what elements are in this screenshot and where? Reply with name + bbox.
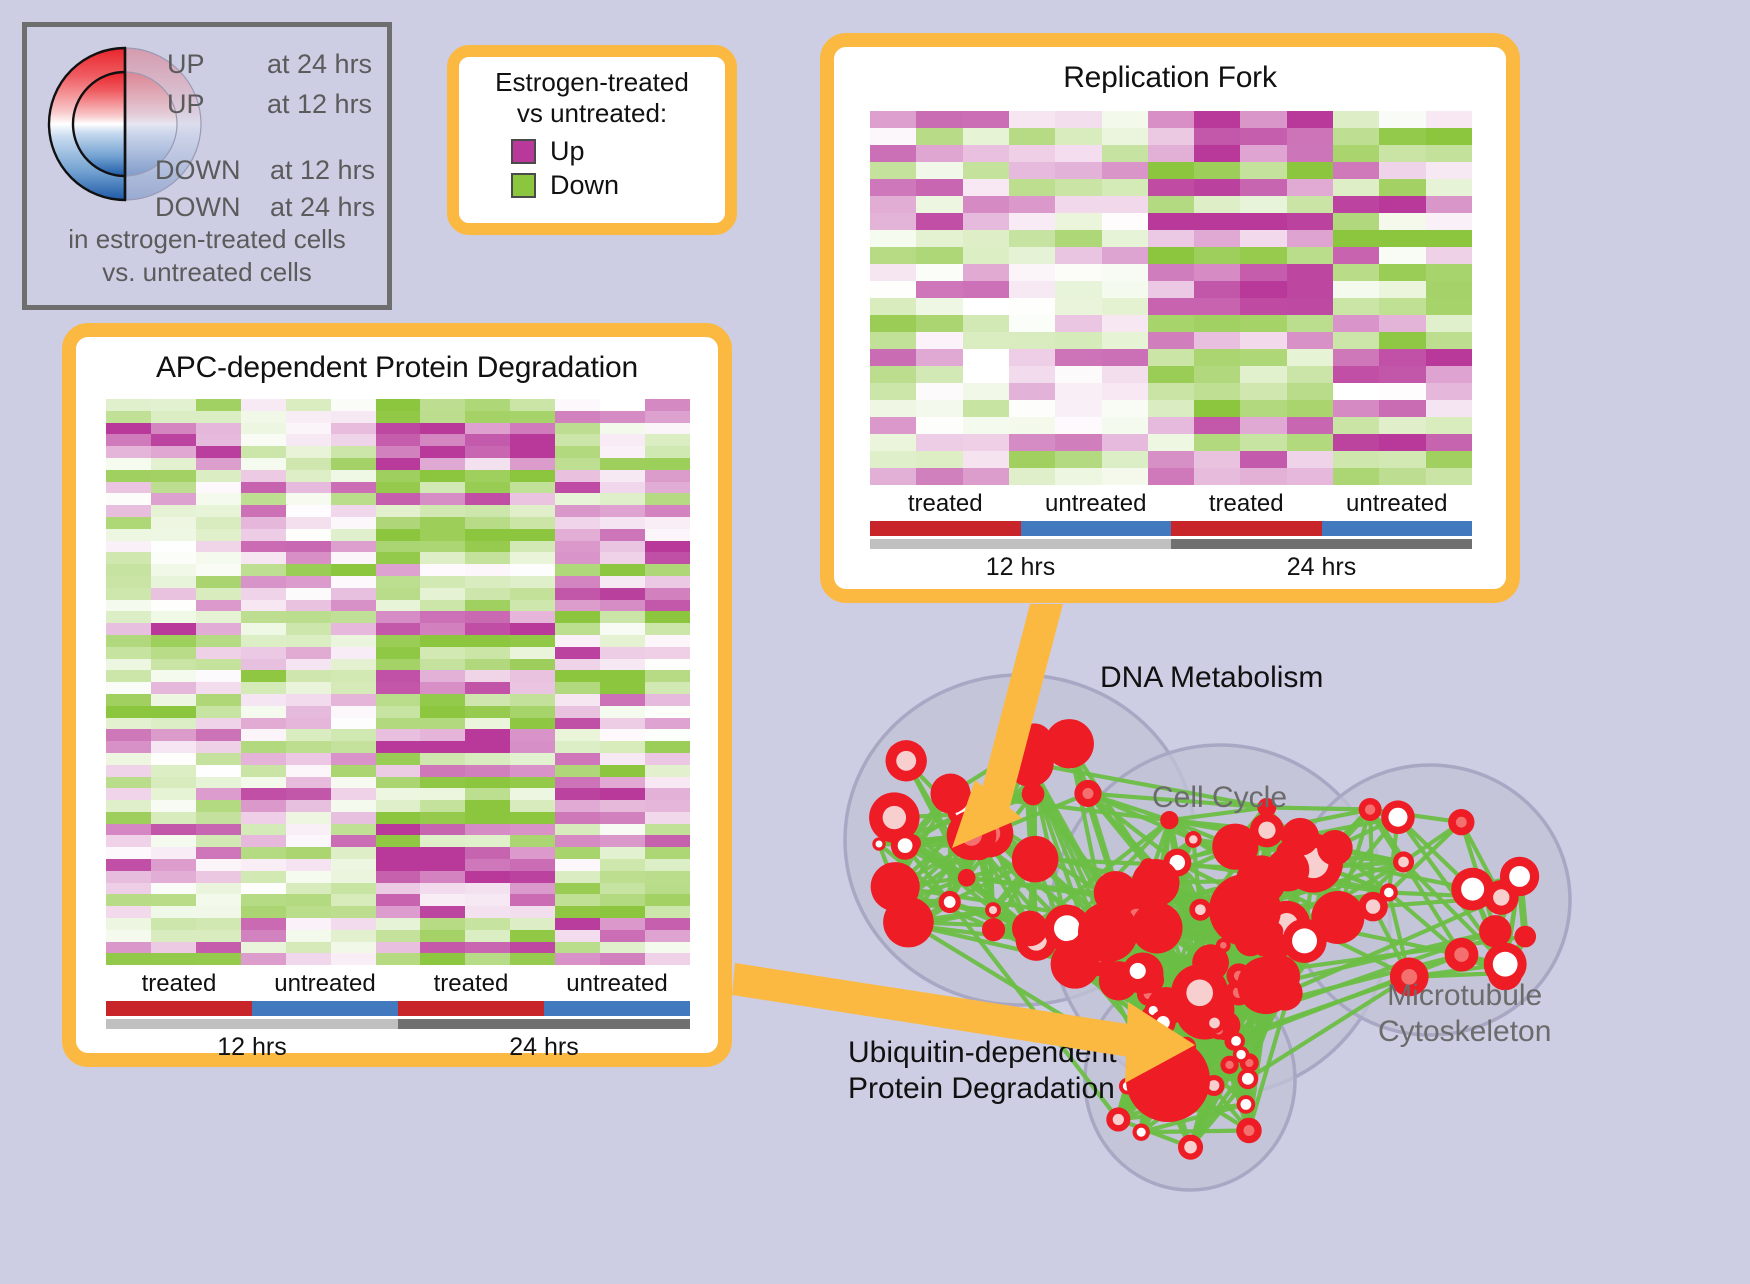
heatmap-cell xyxy=(870,281,916,298)
heatmap-cell xyxy=(1379,400,1425,417)
treatment-bar-untreated-24 xyxy=(544,1001,690,1016)
heatmap-cell xyxy=(420,635,465,647)
heatmap-cell xyxy=(1148,315,1194,332)
treatment-bar-treated-12 xyxy=(870,521,1021,536)
heatmap-cell xyxy=(645,741,690,753)
heatmap-cell xyxy=(376,588,421,600)
network-node xyxy=(883,897,934,948)
heatmap-cell xyxy=(645,788,690,800)
heatmap-cell xyxy=(916,349,962,366)
heatmap-cell xyxy=(600,411,645,423)
heatmap-cell xyxy=(555,482,600,494)
heatmap-cell xyxy=(1102,451,1148,468)
heatmap-cell xyxy=(645,600,690,612)
heatmap-cell xyxy=(963,111,1009,128)
heatmap-cell xyxy=(241,611,286,623)
heatmap-cell xyxy=(645,729,690,741)
heatmap-cell xyxy=(510,953,555,965)
apc-time-bars xyxy=(106,1019,690,1029)
heatmap-cell xyxy=(510,729,555,741)
heatmap-cell xyxy=(555,623,600,635)
heatmap-cell xyxy=(1240,332,1286,349)
heatmap-cell xyxy=(1287,434,1333,451)
heatmap-cell xyxy=(870,468,916,485)
heatmap-cell xyxy=(1102,145,1148,162)
heatmap-cell xyxy=(420,788,465,800)
heatmap-cell xyxy=(196,493,241,505)
heatmap-cell xyxy=(1055,230,1101,247)
group-label-3: untreated xyxy=(1322,490,1473,518)
heatmap-cell xyxy=(555,883,600,895)
heatmap-cell xyxy=(151,741,196,753)
heatmap-cell xyxy=(600,659,645,671)
heatmap-cell xyxy=(420,470,465,482)
heatmap-cell xyxy=(196,835,241,847)
heatmap-cell xyxy=(420,906,465,918)
heatmap-cell xyxy=(1009,162,1055,179)
updown-legend-box: Estrogen-treated vs untreated: Up Down xyxy=(447,45,737,235)
heatmap-cell xyxy=(151,423,196,435)
heatmap-cell xyxy=(1102,196,1148,213)
heatmap-cell xyxy=(376,552,421,564)
heatmap-cell xyxy=(1148,128,1194,145)
heatmap-cell xyxy=(286,588,331,600)
network-node-core xyxy=(883,806,906,829)
time-bar-12hrs xyxy=(870,539,1171,549)
time-bar-24hrs xyxy=(1171,539,1472,549)
heatmap-cell xyxy=(645,434,690,446)
heatmap-cell xyxy=(376,765,421,777)
heatmap-cell xyxy=(106,470,151,482)
heatmap-cell xyxy=(420,918,465,930)
heatmap-cell xyxy=(196,765,241,777)
heatmap-cell xyxy=(1426,111,1472,128)
heatmap-cell xyxy=(1287,145,1333,162)
heatmap-cell xyxy=(286,623,331,635)
heatmap-cell xyxy=(331,493,376,505)
replication-fork-panel: Replication Fork treated untreated treat… xyxy=(820,33,1520,603)
heatmap-cell xyxy=(465,505,510,517)
heatmap-cell xyxy=(196,411,241,423)
heatmap-cell xyxy=(106,647,151,659)
heatmap-cell xyxy=(420,411,465,423)
cluster-label-microtubule-cytoskeleton: Microtubule Cytoskeleton xyxy=(1378,978,1551,1050)
heatmap-cell xyxy=(963,434,1009,451)
heatmap-cell xyxy=(196,682,241,694)
heatmap-cell xyxy=(1333,332,1379,349)
heatmap-cell xyxy=(286,918,331,930)
heatmap-cell xyxy=(600,647,645,659)
legend-item-down: Down xyxy=(511,170,725,201)
heatmap-cell xyxy=(331,411,376,423)
heatmap-cell xyxy=(420,953,465,965)
heatmap-cell xyxy=(151,493,196,505)
heatmap-cell xyxy=(1009,298,1055,315)
heatmap-cell xyxy=(600,777,645,789)
heatmap-cell xyxy=(1009,264,1055,281)
heatmap-cell xyxy=(151,906,196,918)
replication-fork-group-labels: treated untreated treated untreated xyxy=(870,490,1472,518)
heatmap-cell xyxy=(376,576,421,588)
heatmap-cell xyxy=(510,659,555,671)
heatmap-cell xyxy=(241,718,286,730)
heatmap-cell xyxy=(331,647,376,659)
heatmap-cell xyxy=(376,446,421,458)
heatmap-cell xyxy=(465,953,510,965)
heatmap-cell xyxy=(916,111,962,128)
replication-fork-time-bars xyxy=(870,539,1472,549)
heatmap-cell xyxy=(510,588,555,600)
heatmap-cell xyxy=(600,953,645,965)
network-node-core xyxy=(1157,1016,1170,1029)
heatmap-cell xyxy=(1102,383,1148,400)
heatmap-cell xyxy=(1102,315,1148,332)
heatmap-cell xyxy=(420,505,465,517)
heatmap-cell xyxy=(420,588,465,600)
heatmap-cell xyxy=(1287,468,1333,485)
heatmap-cell xyxy=(151,552,196,564)
heatmap-cell xyxy=(420,835,465,847)
heatmap-cell xyxy=(376,482,421,494)
heatmap-cell xyxy=(376,611,421,623)
treatment-bar-untreated-24 xyxy=(1322,521,1473,536)
heatmap-cell xyxy=(241,729,286,741)
heatmap-cell xyxy=(1009,213,1055,230)
heatmap-cell xyxy=(1379,111,1425,128)
network-node-core xyxy=(876,841,883,848)
heatmap-cell xyxy=(331,894,376,906)
heatmap-cell xyxy=(1333,434,1379,451)
heatmap-cell xyxy=(1287,349,1333,366)
heatmap-cell xyxy=(645,694,690,706)
heatmap-cell xyxy=(1009,366,1055,383)
heatmap-cell xyxy=(331,423,376,435)
heatmap-cell xyxy=(331,458,376,470)
heatmap-cell xyxy=(555,635,600,647)
heatmap-cell xyxy=(1426,315,1472,332)
heatmap-cell xyxy=(106,611,151,623)
heatmap-cell xyxy=(286,871,331,883)
heatmap-cell xyxy=(1055,315,1101,332)
heatmap-cell xyxy=(376,883,421,895)
heatmap-cell xyxy=(196,564,241,576)
heatmap-cell xyxy=(376,741,421,753)
heatmap-cell xyxy=(465,694,510,706)
square-swatch-icon-down xyxy=(511,173,536,198)
heatmap-cell xyxy=(286,423,331,435)
heatmap-cell xyxy=(555,741,600,753)
network-node xyxy=(930,774,970,814)
heatmap-cell xyxy=(465,529,510,541)
heatmap-cell xyxy=(870,264,916,281)
heatmap-cell xyxy=(1287,111,1333,128)
network-node xyxy=(1131,902,1182,953)
heatmap-cell xyxy=(1055,162,1101,179)
heatmap-cell xyxy=(1379,383,1425,400)
heatmap-cell xyxy=(1009,145,1055,162)
heatmap-cell xyxy=(555,942,600,954)
heatmap-cell xyxy=(1009,128,1055,145)
heatmap-cell xyxy=(916,366,962,383)
heatmap-cell xyxy=(1102,468,1148,485)
heatmap-cell xyxy=(510,600,555,612)
replication-fork-title: Replication Fork xyxy=(834,61,1506,95)
heatmap-cell xyxy=(1240,247,1286,264)
heatmap-cell xyxy=(510,399,555,411)
heatmap-cell xyxy=(600,788,645,800)
heatmap-cell xyxy=(196,399,241,411)
heatmap-cell xyxy=(1009,281,1055,298)
heatmap-cell xyxy=(420,564,465,576)
heatmap-cell xyxy=(106,635,151,647)
heatmap-cell xyxy=(600,517,645,529)
heatmap-cell xyxy=(106,883,151,895)
heatmap-cell xyxy=(376,399,421,411)
heatmap-cell xyxy=(1426,366,1472,383)
heatmap-cell xyxy=(196,847,241,859)
heatmap-cell xyxy=(600,493,645,505)
heatmap-cell xyxy=(376,493,421,505)
heatmap-cell xyxy=(555,399,600,411)
heatmap-cell xyxy=(286,635,331,647)
network-node-core xyxy=(1184,1141,1197,1154)
heatmap-cell xyxy=(106,729,151,741)
heatmap-cell xyxy=(600,729,645,741)
heatmap-cell xyxy=(870,451,916,468)
heatmap-cell xyxy=(241,942,286,954)
apc-degradation-heatmap xyxy=(106,399,690,965)
heatmap-cell xyxy=(286,777,331,789)
heatmap-cell xyxy=(420,647,465,659)
heatmap-cell xyxy=(331,706,376,718)
heatmap-cell xyxy=(106,541,151,553)
heatmap-cell xyxy=(376,777,421,789)
heatmap-cell xyxy=(916,230,962,247)
heatmap-cell xyxy=(1379,468,1425,485)
heatmap-cell xyxy=(286,800,331,812)
heatmap-cell xyxy=(1009,349,1055,366)
heatmap-cell xyxy=(600,482,645,494)
heatmap-cell xyxy=(241,835,286,847)
heatmap-cell xyxy=(376,930,421,942)
heatmap-cell xyxy=(465,564,510,576)
heatmap-cell xyxy=(465,635,510,647)
heatmap-cell xyxy=(241,446,286,458)
network-node-core xyxy=(1493,889,1509,905)
heatmap-cell xyxy=(1333,366,1379,383)
group-label-1: untreated xyxy=(252,970,398,998)
heatmap-cell xyxy=(286,812,331,824)
heatmap-cell xyxy=(645,835,690,847)
heatmap-cell xyxy=(241,847,286,859)
heatmap-cell xyxy=(465,552,510,564)
heatmap-cell xyxy=(106,529,151,541)
heatmap-cell xyxy=(1102,111,1148,128)
heatmap-cell xyxy=(420,930,465,942)
heatmap-cell xyxy=(1379,349,1425,366)
heatmap-cell xyxy=(1426,196,1472,213)
treatment-bar-treated-12 xyxy=(106,1001,252,1016)
heatmap-cell xyxy=(196,729,241,741)
heatmap-cell xyxy=(1055,196,1101,213)
heatmap-cell xyxy=(331,541,376,553)
heatmap-cell xyxy=(870,179,916,196)
heatmap-cell xyxy=(241,765,286,777)
network-node xyxy=(1022,783,1045,806)
heatmap-cell xyxy=(151,458,196,470)
heatmap-cell xyxy=(555,894,600,906)
heatmap-cell xyxy=(465,670,510,682)
heatmap-cell xyxy=(106,871,151,883)
heatmap-cell xyxy=(420,729,465,741)
heatmap-cell xyxy=(376,517,421,529)
heatmap-cell xyxy=(331,718,376,730)
heatmap-cell xyxy=(241,564,286,576)
heatmap-cell xyxy=(963,451,1009,468)
heatmap-cell xyxy=(331,600,376,612)
heatmap-cell xyxy=(1240,162,1286,179)
heatmap-cell xyxy=(1055,332,1101,349)
heatmap-cell xyxy=(286,517,331,529)
time-bar-24hrs xyxy=(398,1019,690,1029)
heatmap-cell xyxy=(465,482,510,494)
heatmap-cell xyxy=(510,434,555,446)
heatmap-cell xyxy=(510,411,555,423)
heatmap-cell xyxy=(1055,298,1101,315)
heatmap-cell xyxy=(151,399,196,411)
heatmap-cell xyxy=(1148,434,1194,451)
heatmap-cell xyxy=(331,883,376,895)
heatmap-cell xyxy=(1009,451,1055,468)
heatmap-cell xyxy=(555,611,600,623)
heatmap-cell xyxy=(555,493,600,505)
cluster-label-dna-metabolism: DNA Metabolism xyxy=(1100,660,1323,696)
heatmap-cell xyxy=(1148,400,1194,417)
legend-title-line-2: vs untreated: xyxy=(459,98,725,129)
heatmap-cell xyxy=(1426,213,1472,230)
heatmap-cell xyxy=(1055,247,1101,264)
heatmap-cell xyxy=(151,529,196,541)
heatmap-cell xyxy=(1287,298,1333,315)
heatmap-cell xyxy=(286,541,331,553)
heatmap-cell xyxy=(465,871,510,883)
heatmap-cell xyxy=(241,434,286,446)
heatmap-cell xyxy=(465,623,510,635)
heatmap-cell xyxy=(645,647,690,659)
heatmap-cell xyxy=(151,623,196,635)
heatmap-cell xyxy=(420,859,465,871)
heatmap-cell xyxy=(420,399,465,411)
heatmap-cell xyxy=(555,729,600,741)
heatmap-cell xyxy=(286,399,331,411)
heatmap-cell xyxy=(870,298,916,315)
network-graph xyxy=(790,610,1750,1279)
square-swatch-icon-up xyxy=(511,139,536,164)
heatmap-cell xyxy=(465,800,510,812)
heatmap-cell xyxy=(1379,298,1425,315)
heatmap-cell xyxy=(645,493,690,505)
heatmap-cell xyxy=(510,670,555,682)
function-network-diagram: DNA Metabolism Cell Cycle Microtubule Cy… xyxy=(790,610,1750,1279)
heatmap-cell xyxy=(916,213,962,230)
heatmap-cell xyxy=(1379,451,1425,468)
heatmap-cell xyxy=(465,918,510,930)
heatmap-cell xyxy=(241,682,286,694)
heatmap-cell xyxy=(286,694,331,706)
heatmap-cell xyxy=(151,942,196,954)
heatmap-cell xyxy=(555,576,600,588)
key-word-1: UP xyxy=(167,89,205,120)
heatmap-cell xyxy=(196,423,241,435)
heatmap-cell xyxy=(331,906,376,918)
heatmap-cell xyxy=(600,942,645,954)
heatmap-cell xyxy=(465,835,510,847)
heatmap-cell xyxy=(286,505,331,517)
heatmap-cell xyxy=(555,777,600,789)
heatmap-cell xyxy=(196,859,241,871)
heatmap-cell xyxy=(510,859,555,871)
heatmap-cell xyxy=(916,400,962,417)
heatmap-cell xyxy=(1240,315,1286,332)
heatmap-cell xyxy=(510,847,555,859)
heatmap-cell xyxy=(1426,417,1472,434)
heatmap-cell xyxy=(465,647,510,659)
heatmap-cell xyxy=(331,611,376,623)
heatmap-cell xyxy=(106,753,151,765)
heatmap-cell xyxy=(151,611,196,623)
heatmap-cell xyxy=(963,230,1009,247)
heatmap-cell xyxy=(286,411,331,423)
heatmap-cell xyxy=(510,611,555,623)
heatmap-cell xyxy=(196,812,241,824)
heatmap-cell xyxy=(376,835,421,847)
heatmap-cell xyxy=(331,953,376,965)
heatmap-cell xyxy=(196,777,241,789)
heatmap-cell xyxy=(376,411,421,423)
heatmap-cell xyxy=(600,824,645,836)
heatmap-cell xyxy=(1426,383,1472,400)
heatmap-cell xyxy=(510,505,555,517)
network-edge xyxy=(1141,1130,1249,1132)
heatmap-cell xyxy=(151,800,196,812)
network-node-core xyxy=(1456,817,1467,828)
heatmap-cell xyxy=(1055,213,1101,230)
heatmap-cell xyxy=(465,399,510,411)
heatmap-cell xyxy=(151,871,196,883)
heatmap-cell xyxy=(1194,451,1240,468)
heatmap-cell xyxy=(1287,400,1333,417)
heatmap-cell xyxy=(1240,366,1286,383)
heatmap-cell xyxy=(645,942,690,954)
heatmap-cell xyxy=(1194,162,1240,179)
heatmap-cell xyxy=(151,777,196,789)
cluster-label-ubiquitin-degradation: Ubiquitin-dependent Protein Degradation xyxy=(848,1035,1117,1107)
heatmap-cell xyxy=(600,847,645,859)
time-label-24hrs: 24 hrs xyxy=(398,1033,690,1062)
heatmap-cell xyxy=(376,800,421,812)
heatmap-cell xyxy=(555,765,600,777)
heatmap-cell xyxy=(645,906,690,918)
network-node-core xyxy=(1054,915,1080,941)
heatmap-cell xyxy=(331,529,376,541)
heatmap-cell xyxy=(286,859,331,871)
network-node xyxy=(1003,731,1045,773)
heatmap-cell xyxy=(196,482,241,494)
heatmap-cell xyxy=(1426,145,1472,162)
heatmap-cell xyxy=(510,493,555,505)
heatmap-cell xyxy=(600,611,645,623)
heatmap-cell xyxy=(645,753,690,765)
